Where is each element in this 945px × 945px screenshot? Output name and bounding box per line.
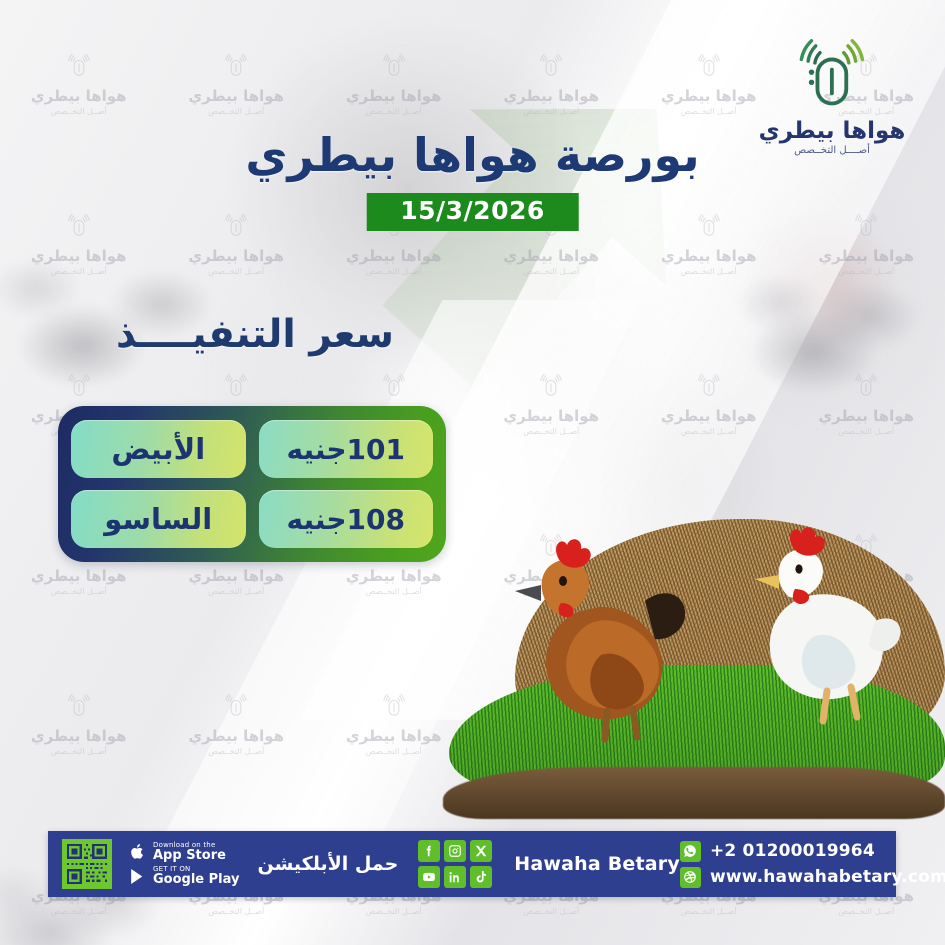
app-store-badges: Download on the App Store GET IT ON Goog…: [128, 842, 239, 887]
google-play-label: Google Play: [153, 873, 239, 886]
qr-code-icon: [65, 842, 109, 886]
page-title: بورصة هواها بيطري: [0, 128, 945, 182]
youtube-icon[interactable]: [418, 866, 440, 888]
apple-icon: [128, 842, 147, 861]
price-row-label: الأبيض: [71, 420, 246, 478]
globe-icon: [680, 867, 701, 888]
app-store-label: App Store: [153, 849, 226, 862]
contact-block: +2 01200019964 www.hawahabetary.com: [680, 841, 945, 888]
google-play-icon: [128, 867, 147, 886]
price-unit: جنيه: [287, 503, 347, 536]
table-row: الساسو 108جنيه: [71, 490, 433, 548]
download-app-cta[interactable]: حمل الأبلكيشن: [257, 853, 398, 875]
facebook-icon[interactable]: [418, 840, 440, 862]
price-row-value: 101جنيه: [259, 420, 434, 478]
website-line[interactable]: www.hawahabetary.com: [680, 867, 945, 888]
whatsapp-icon: [680, 841, 701, 862]
price-row-value: 108جنيه: [259, 490, 434, 548]
linkedin-icon[interactable]: [444, 866, 466, 888]
website-url: www.hawahabetary.com: [710, 867, 945, 887]
qr-code[interactable]: [62, 839, 112, 889]
price-unit: جنيه: [287, 433, 347, 466]
x-twitter-icon[interactable]: [470, 840, 492, 862]
price-row-label: الساسو: [71, 490, 246, 548]
footer-bar: Download on the App Store GET IT ON Goog…: [48, 831, 896, 897]
tiktok-icon[interactable]: [470, 866, 492, 888]
background-smoke-right: [735, 220, 945, 440]
price-amount: 108: [347, 503, 405, 536]
instagram-icon[interactable]: [444, 840, 466, 862]
stethoscope-signal-icon: [781, 34, 883, 112]
social-links: [418, 840, 492, 888]
brand-name-latin: Hawaha Betary: [514, 853, 680, 875]
price-table: الأبيض 101جنيه الساسو 108جنيه: [58, 406, 446, 562]
table-row: الأبيض 101جنيه: [71, 420, 433, 478]
phone-number: +2 01200019964: [710, 841, 875, 861]
date-badge: 15/3/2026: [366, 193, 579, 231]
price-amount: 101: [347, 433, 405, 466]
poster-root: هواها بيطريأصــل التخــصصهواها بيطريأصــ…: [0, 0, 945, 945]
section-title: سعر التنفيــــذ: [60, 312, 450, 357]
app-store-badge[interactable]: Download on the App Store: [128, 842, 239, 862]
google-play-badge[interactable]: GET IT ON Google Play: [128, 866, 239, 886]
phone-line[interactable]: +2 01200019964: [680, 841, 945, 862]
